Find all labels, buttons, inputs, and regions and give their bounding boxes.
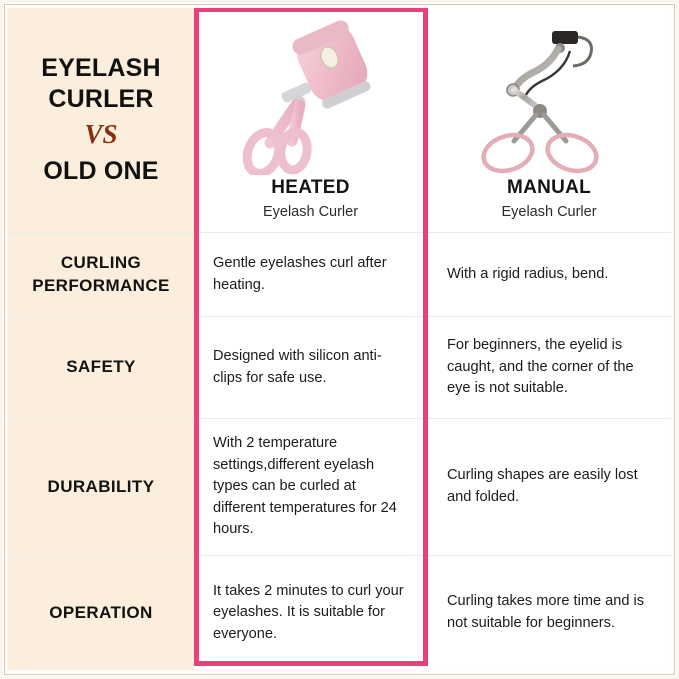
cell-text: It takes 2 minutes to curl your eyelashe… <box>213 581 409 646</box>
heated-product-header: HEATED Eyelash Curler <box>194 8 427 232</box>
heated-product-subtitle: Eyelash Curler <box>263 203 358 222</box>
feature-label-cell: SAFETY <box>8 317 194 418</box>
table-row: SAFETY Designed with silicon anti-clips … <box>8 316 671 418</box>
cell-text: With 2 temperature settings,different ey… <box>213 433 409 541</box>
heated-value-cell: It takes 2 minutes to curl your eyelashe… <box>194 556 427 670</box>
feature-name: DURABILITY <box>48 476 155 498</box>
cell-text: Gentle eyelashes curl after heating. <box>213 253 409 296</box>
heated-value-cell: Designed with silicon anti-clips for saf… <box>194 317 427 418</box>
manual-product-header: MANUAL Eyelash Curler <box>427 8 671 232</box>
table-header-row: EYELASH CURLER VS OLD ONE <box>8 8 671 232</box>
feature-label-cell: CURLING PERFORMANCE <box>8 233 194 316</box>
manual-value-cell: Curling shapes are easily lost and folde… <box>427 419 671 555</box>
comparison-table: EYELASH CURLER VS OLD ONE <box>8 8 671 671</box>
vs-text: VS <box>84 118 117 152</box>
heated-value-cell: Gentle eyelashes curl after heating. <box>194 233 427 316</box>
manual-product-name: MANUAL <box>507 178 591 199</box>
feature-name: SAFETY <box>66 356 135 378</box>
title-line-1: EYELASH <box>41 54 160 84</box>
comparison-infographic: EYELASH CURLER VS OLD ONE <box>0 0 679 679</box>
feature-name: CURLING PERFORMANCE <box>18 252 184 297</box>
manual-eyelash-curler-image <box>474 16 624 176</box>
title-line-3: OLD ONE <box>43 157 158 187</box>
heated-product-name: HEATED <box>271 178 350 199</box>
heated-eyelash-curler-image <box>236 16 386 176</box>
feature-label-cell: OPERATION <box>8 556 194 670</box>
cell-text: For beginners, the eyelid is caught, and… <box>447 335 655 400</box>
cell-text: With a rigid radius, bend. <box>447 264 608 286</box>
title-line-2: CURLER <box>48 85 153 115</box>
feature-label-cell: DURABILITY <box>8 419 194 555</box>
cell-text: Designed with silicon anti-clips for saf… <box>213 346 409 389</box>
title-cell: EYELASH CURLER VS OLD ONE <box>8 8 194 232</box>
table-row: CURLING PERFORMANCE Gentle eyelashes cur… <box>8 232 671 316</box>
feature-name: OPERATION <box>49 602 152 624</box>
table-row: DURABILITY With 2 temperature settings,d… <box>8 418 671 555</box>
table-row: OPERATION It takes 2 minutes to curl you… <box>8 555 671 670</box>
cell-text: Curling shapes are easily lost and folde… <box>447 465 655 508</box>
manual-value-cell: For beginners, the eyelid is caught, and… <box>427 317 671 418</box>
heated-value-cell: With 2 temperature settings,different ey… <box>194 419 427 555</box>
manual-value-cell: With a rigid radius, bend. <box>427 233 671 316</box>
cell-text: Curling takes more time and is not suita… <box>447 591 655 634</box>
manual-product-subtitle: Eyelash Curler <box>501 203 596 222</box>
manual-value-cell: Curling takes more time and is not suita… <box>427 556 671 670</box>
